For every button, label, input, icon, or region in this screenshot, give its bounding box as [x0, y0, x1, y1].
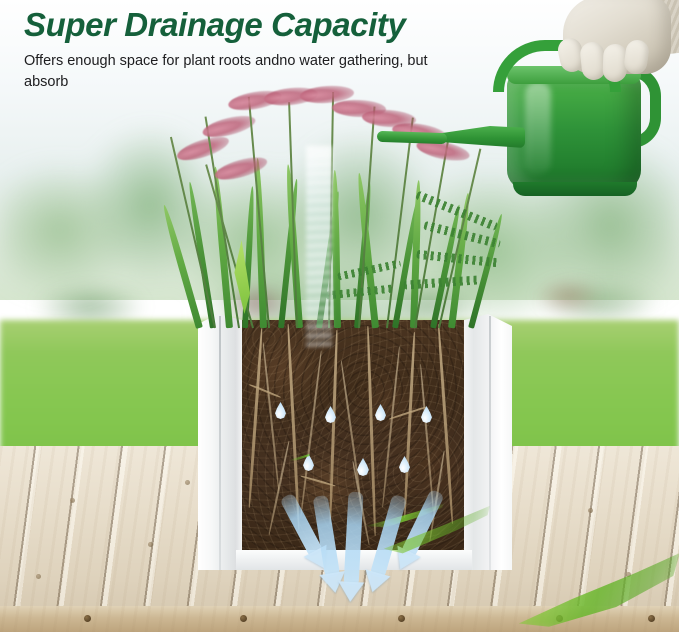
watering-can-base	[513, 182, 637, 196]
grass-plume	[175, 132, 232, 165]
banner-text-block: Super Drainage Capacity Offers enough sp…	[0, 0, 679, 93]
planter-left-wall	[198, 314, 242, 570]
planter-right-wall	[464, 314, 512, 570]
page-subtitle: Offers enough space for plant roots andn…	[24, 51, 454, 93]
grass-plume	[213, 153, 270, 184]
page-title: Super Drainage Capacity	[24, 6, 655, 45]
product-feature-banner: Super Drainage Capacity Offers enough sp…	[0, 0, 679, 632]
background-gazebo	[520, 270, 616, 322]
water-stream	[306, 146, 332, 346]
